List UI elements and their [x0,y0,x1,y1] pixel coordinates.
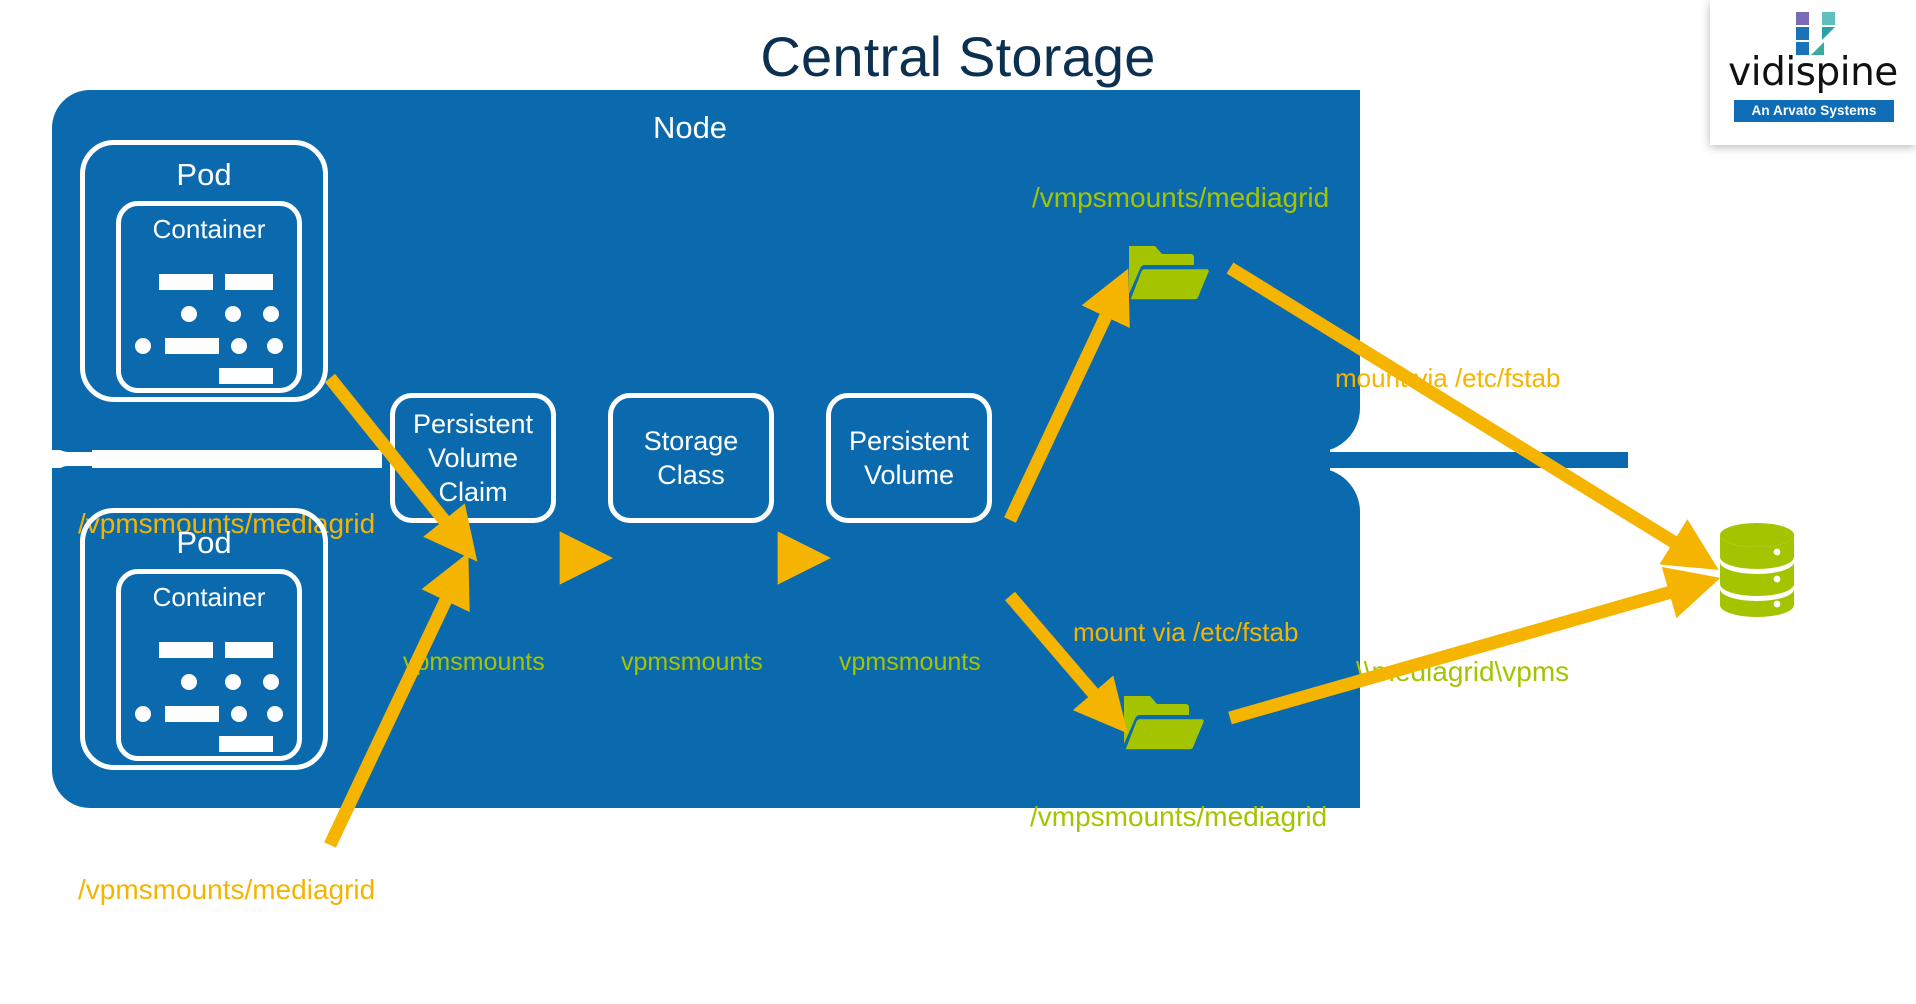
storage-class-box[interactable]: Storage Class [608,393,774,523]
pod-bottom-label: Pod [85,525,323,561]
storage-class-label: Storage Class [644,424,739,492]
node-gap-corner-bottom [52,466,92,482]
storage-target-label: \\mediagrid\vpms [1356,656,1569,688]
pvc-sub-label: vpmsmounts [403,648,545,677]
node-label: Node [560,110,820,146]
slide-canvas: Central Storage Node Pod Container [0,0,1916,1004]
pvc-label: Persistent Volume Claim [413,407,533,509]
arvato-brand-badge: An Arvato Systems Brand [1734,100,1894,122]
database-icon [1718,522,1796,618]
folder-top-path: /vmpsmounts/mediagrid [1032,182,1329,214]
pod-top-label: Pod [85,157,323,193]
vidispine-logo: vidispine An Arvato Systems Brand [1710,0,1916,145]
container-top-label: Container [121,214,297,245]
pv-sub-label: vpmsmounts [839,648,981,677]
container-bottom-label: Container [121,582,297,613]
pv-label: Persistent Volume [849,424,969,492]
container-bottom[interactable]: Container [116,569,302,761]
fstab-label-top: mount via /etc/fstab [1335,363,1560,394]
container-top[interactable]: Container [116,201,302,393]
persistent-volume-box[interactable]: Persistent Volume [826,393,992,523]
folder-icon [1127,240,1211,304]
container-glyph-icon [121,274,307,386]
persistent-volume-claim-box[interactable]: Persistent Volume Claim [390,393,556,523]
pod-bottom-mount-path: /vpmsmounts/mediagrid [78,874,375,906]
vidispine-mark-icon [1796,12,1840,54]
storage-class-sub-label: vpmsmounts [621,648,763,677]
page-title: Central Storage [0,24,1916,89]
pod-top[interactable]: Pod Container [80,140,328,402]
node-gap [52,450,382,468]
node-notch-upper [1330,90,1628,452]
pod-bottom[interactable]: Pod Container [80,508,328,770]
folder-icon [1122,690,1206,754]
fstab-label-bottom: mount via /etc/fstab [1073,617,1298,648]
vidispine-wordmark: vidispine [1710,50,1916,95]
node-notch-lower [1330,468,1628,808]
container-glyph-icon [121,642,307,754]
folder-bottom-path: /vmpsmounts/mediagrid [1030,801,1327,833]
